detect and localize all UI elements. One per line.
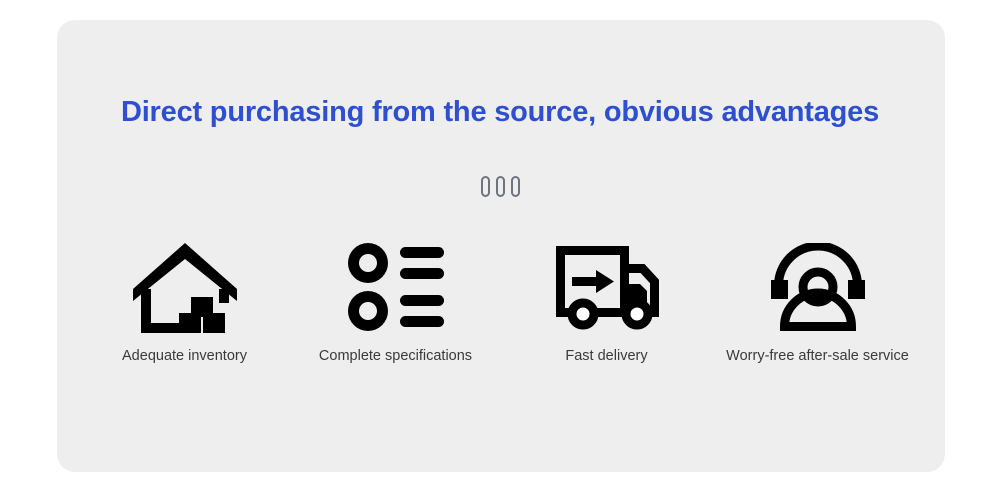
headset-support-icon — [768, 236, 868, 338]
feature-label: Fast delivery — [565, 348, 647, 364]
warehouse-icon — [133, 236, 237, 338]
feature-label: Adequate inventory — [122, 348, 247, 364]
decorative-divider — [0, 176, 1000, 197]
specifications-list-icon — [346, 236, 446, 338]
delivery-truck-icon — [554, 236, 660, 338]
feature-list: Adequate inventory — [57, 236, 945, 364]
feature-item-support: Worry-free after-sale service — [712, 236, 923, 364]
divider-pill-icon — [481, 176, 490, 197]
feature-item-delivery: Fast delivery — [501, 236, 712, 364]
page-title: Direct purchasing from the source, obvio… — [0, 96, 1000, 129]
promo-banner: Direct purchasing from the source, obvio… — [0, 0, 1000, 498]
divider-pill-icon — [511, 176, 520, 197]
divider-pill-icon — [496, 176, 505, 197]
feature-label: Worry-free after-sale service — [726, 348, 909, 364]
feature-item-inventory: Adequate inventory — [79, 236, 290, 364]
feature-item-specifications: Complete specifications — [290, 236, 501, 364]
feature-label: Complete specifications — [319, 348, 472, 364]
